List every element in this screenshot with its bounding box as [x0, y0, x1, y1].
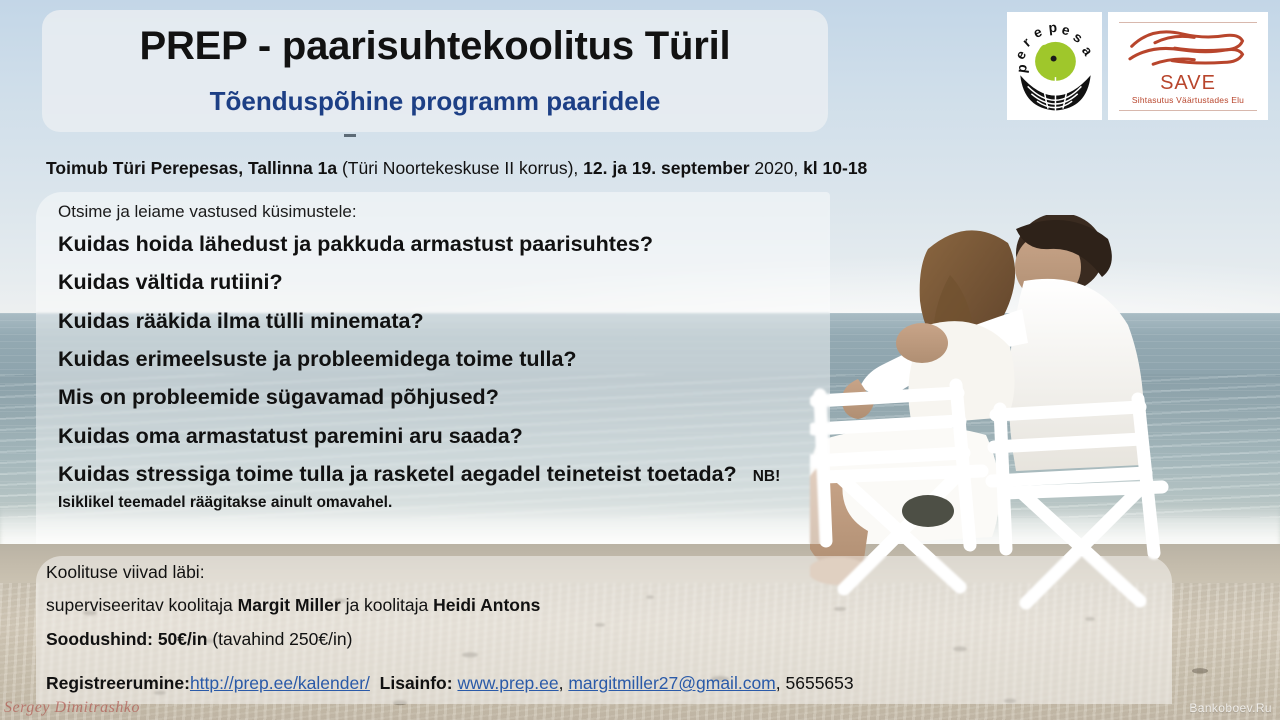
svg-text:p: p [1047, 19, 1057, 36]
trainer-name-1: Margit Miller [238, 595, 341, 615]
question-text: Kuidas vältida rutiini? [58, 270, 283, 294]
trainers-middle: ja koolitaja [341, 595, 433, 615]
perepesa-nest-icon: p e r e p e s a [1011, 18, 1099, 114]
questions-list: Kuidas hoida lähedust ja pakkuda armastu… [58, 232, 818, 513]
question-text: Kuidas hoida lähedust ja pakkuda armastu… [58, 232, 653, 256]
registration-link[interactable]: http://prep.ee/kalender/ [190, 673, 370, 693]
svg-text:e: e [1030, 23, 1044, 41]
question-text: Kuidas oma armastatust paremini aru saad… [58, 424, 523, 448]
save-wordmark: SAVE [1160, 73, 1216, 93]
save-logo: SAVE Sihtasutus Väärtustades Elu [1108, 12, 1268, 120]
poster-canvas: p e r e p e s a [0, 0, 1280, 720]
venue-year: 2020, [754, 158, 798, 178]
info-label: Lisainfo: [380, 673, 453, 693]
venue-note: (Türi Noortekeskuse II korrus), [342, 158, 578, 178]
list-item: Kuidas hoida lähedust ja pakkuda armastu… [58, 232, 818, 257]
list-item: Kuidas oma armastatust paremini aru saad… [58, 424, 818, 449]
price-line: Soodushind: 50€/in (tavahind 250€/in) [46, 630, 1146, 649]
save-tagline: Sihtasutus Väärtustades Elu [1132, 95, 1244, 105]
caret-mark [344, 134, 356, 137]
list-item: Mis on probleemide sügavamad põhjused? [58, 385, 818, 410]
venue-place: Toimub Türi Perepesas, Tallinna 1a [46, 158, 337, 178]
venue-time: kl 10-18 [803, 158, 867, 178]
svg-text:e: e [1060, 21, 1072, 38]
price-label: Soodushind: [46, 629, 153, 649]
info-separator: , [559, 673, 569, 693]
logo-strip: p e r e p e s a [1007, 12, 1268, 120]
watermark-left: Sergey Dimitrashko [4, 699, 140, 717]
registration-line: Registreerumine:http://prep.ee/kalender/… [46, 673, 854, 694]
list-item: Kuidas vältida rutiini? [58, 270, 818, 295]
question-text: Kuidas stressiga toime tulla ja rasketel… [58, 462, 737, 486]
email-link[interactable]: margitmiller27@gmail.com [568, 673, 775, 693]
page-title: PREP - paarisuhtekoolitus Türil [42, 24, 828, 69]
svg-text:p: p [1012, 63, 1029, 74]
price-value: 50€/in [158, 629, 208, 649]
save-logo-bottom-rule [1119, 110, 1257, 111]
watermark-right: Bankoboev.Ru [1189, 701, 1272, 715]
couple-on-deckchairs-photo [810, 215, 1280, 615]
page-subtitle: Tõenduspõhine programm paaridele [42, 86, 828, 117]
svg-text:r: r [1018, 34, 1033, 50]
svg-text:a: a [1078, 43, 1096, 59]
price-regular: (tavahind 250€/in) [212, 629, 352, 649]
footer-info-block: Koolituse viivad läbi: superviseeritav k… [46, 563, 1146, 663]
trainers-prefix: superviseeritav koolitaja [46, 595, 238, 615]
questions-intro: Otsime ja leiame vastused küsimustele: [58, 202, 357, 222]
venue-dates: 12. ja 19. september [583, 158, 749, 178]
question-text: Mis on probleemide sügavamad põhjused? [58, 385, 499, 409]
svg-text:s: s [1070, 28, 1086, 46]
list-item: Kuidas erimeelsuste ja probleemidega toi… [58, 347, 818, 372]
list-item: Kuidas stressiga toime tulla ja rasketel… [58, 462, 818, 513]
register-label: Registreerumine: [46, 673, 190, 693]
question-text: Kuidas rääkida ilma tülli minemata? [58, 309, 424, 333]
trainers-label: Koolituse viivad läbi: [46, 563, 1146, 582]
website-link[interactable]: www.prep.ee [457, 673, 558, 693]
list-item: Kuidas rääkida ilma tülli minemata? [58, 309, 818, 334]
trainers-line: superviseeritav koolitaja Margit Miller … [46, 596, 1146, 615]
question-text: Kuidas erimeelsuste ja probleemidega toi… [58, 347, 577, 371]
phone-number: , 5655653 [776, 673, 854, 693]
svg-text:e: e [1011, 47, 1029, 62]
venue-line: Toimub Türi Perepesas, Tallinna 1a (Türi… [46, 158, 867, 179]
perepesa-logo: p e r e p e s a [1007, 12, 1102, 120]
save-hands-icon [1121, 23, 1255, 75]
trainer-name-2: Heidi Antons [433, 595, 540, 615]
